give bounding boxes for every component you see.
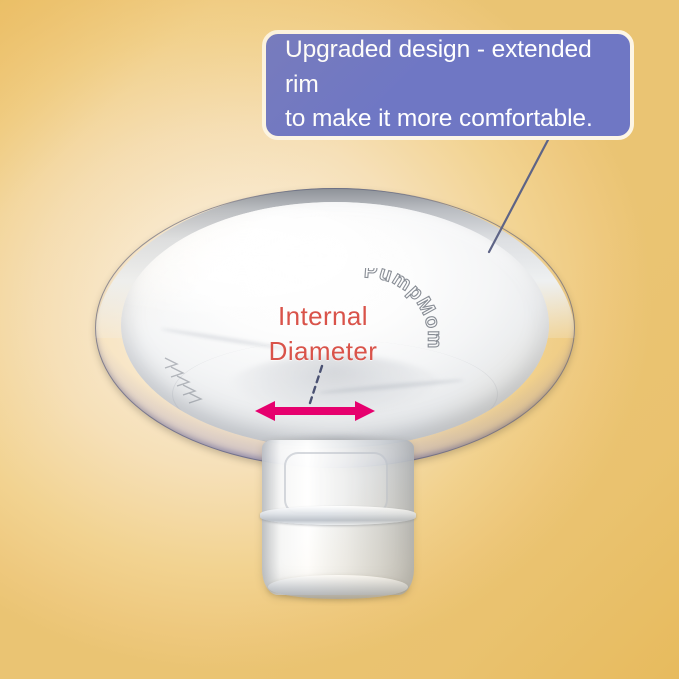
diameter-arrow-shape <box>255 401 375 421</box>
product-image-canvas: PumpMom Internal Diameter Upgraded desig… <box>0 0 679 679</box>
size-emboss-marks <box>155 352 225 410</box>
connector-stem <box>262 440 414 595</box>
internal-diameter-label: Internal Diameter <box>238 299 408 368</box>
stem-ridge-band <box>260 506 416 525</box>
feature-callout[interactable]: Upgraded design - extended rim to make i… <box>262 30 634 140</box>
stem-inner-panel <box>284 452 388 514</box>
feature-callout-text: Upgraded design - extended rim to make i… <box>285 33 611 137</box>
stem-bottom-edge <box>268 575 408 599</box>
diameter-arrow <box>255 394 375 428</box>
feature-callout-box[interactable]: Upgraded design - extended rim to make i… <box>262 30 634 140</box>
